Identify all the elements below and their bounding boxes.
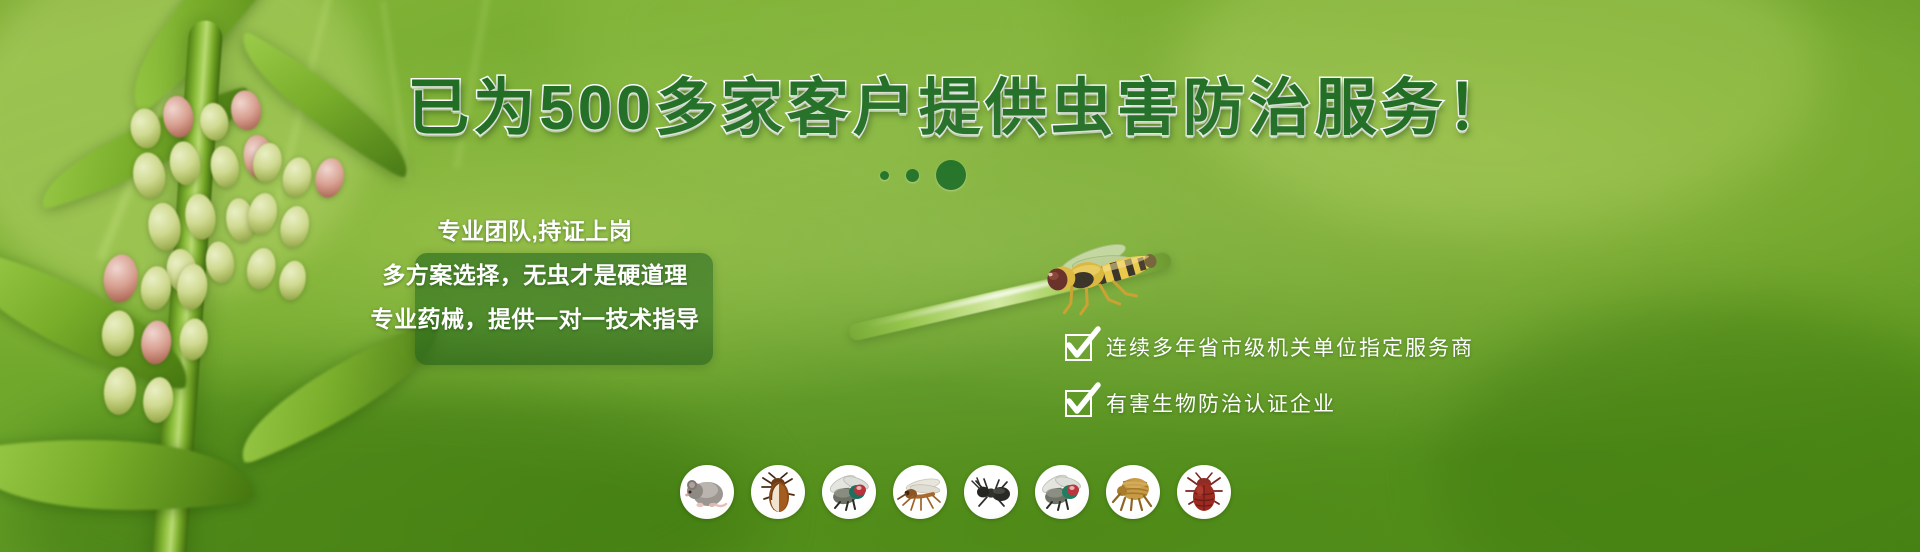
bedbug-icon[interactable]	[1177, 465, 1231, 519]
slogan-line-3: 专业药械，提供一对一技术指导	[371, 300, 700, 334]
large-dot-icon	[936, 160, 966, 190]
checkbox-checked-icon	[1065, 390, 1092, 417]
headline-text: 已为500多家客户提供虫害防治服务！	[407, 74, 1512, 143]
decorative-dots	[880, 160, 966, 190]
slogan-line-1: 专业团队,持证上岗	[438, 212, 633, 246]
cockroach-icon[interactable]	[751, 465, 805, 519]
housefly-icon[interactable]	[822, 465, 876, 519]
credential-label: 有害生物防治认证企业	[1106, 388, 1336, 418]
slogan-list: 专业团队,持证上岗 多方案选择，无虫才是硬道理 专业药械，提供一对一技术指导	[336, 212, 734, 334]
list-item: 连续多年省市级机关单位指定服务商	[1065, 332, 1474, 362]
ant-icon[interactable]	[964, 465, 1018, 519]
promo-banner: 已为500多家客户提供虫害防治服务！ 专业团队,持证上岗 多方案选择，无虫才是硬…	[0, 0, 1920, 552]
list-item: 有害生物防治认证企业	[1065, 388, 1474, 418]
mouse-icon[interactable]	[680, 465, 734, 519]
flea-icon[interactable]	[1106, 465, 1160, 519]
mosquito-icon[interactable]	[893, 465, 947, 519]
credential-list: 连续多年省市级机关单位指定服务商 有害生物防治认证企业	[1065, 332, 1474, 418]
small-dot-icon	[880, 171, 889, 180]
slogan-line-2: 多方案选择，无虫才是硬道理	[382, 256, 688, 290]
page-title: 已为500多家客户提供虫害防治服务！	[0, 78, 1920, 140]
blowfly-icon[interactable]	[1035, 465, 1089, 519]
pest-icon-row	[680, 465, 1231, 519]
medium-dot-icon	[906, 169, 919, 182]
checkbox-checked-icon	[1065, 334, 1092, 361]
credential-label: 连续多年省市级机关单位指定服务商	[1106, 332, 1474, 362]
